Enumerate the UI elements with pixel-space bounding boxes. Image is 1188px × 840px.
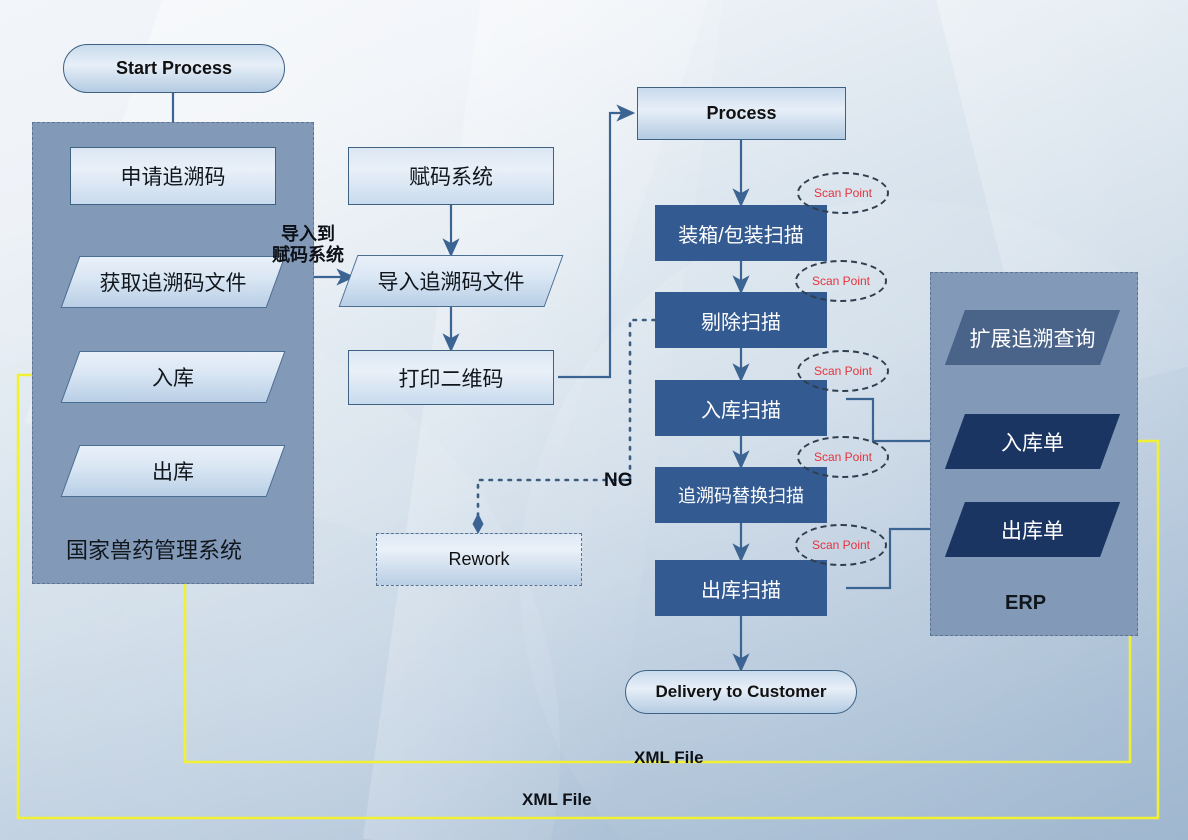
edge-label-line-1: 导入到 [272,224,344,245]
node-coding-system-label: 赋码系统 [409,161,493,191]
scan-point-label: Scan Point [814,364,872,378]
node-packing-scan-label: 装箱/包装扫描 [678,219,804,248]
node-packing-scan[interactable]: 装箱/包装扫描 [655,205,827,261]
node-start-process[interactable]: Start Process [63,44,285,93]
flowchart-canvas: Start Process 申请追溯码 获取追溯码文件 入库 出库 国家兽药管理… [0,0,1188,840]
node-reject-scan[interactable]: 剔除扫描 [655,292,827,348]
node-reject-scan-label: 剔除扫描 [701,306,781,335]
edge-label-line-2: 赋码系统 [272,245,344,266]
node-inbound[interactable]: 入库 [70,351,276,403]
node-inbound-document[interactable]: 入库单 [955,414,1110,469]
node-rework-label: Rework [448,549,509,570]
edge-label-xml-file-lower: XML File [518,790,596,810]
node-code-replace-scan-label: 追溯码替换扫描 [678,482,804,508]
node-process[interactable]: Process [637,87,846,140]
scan-point-badge-1: Scan Point [797,172,889,214]
node-extended-trace-query-label: 扩展追溯查询 [970,323,1096,353]
scan-point-badge-3: Scan Point [797,350,889,392]
node-delivery-to-customer[interactable]: Delivery to Customer [625,670,857,714]
node-code-replace-scan[interactable]: 追溯码替换扫描 [655,467,827,523]
edge-label-import-to-coding-system: 导入到 赋码系统 [272,224,344,265]
node-inbound-label: 入库 [152,362,194,392]
node-delivery-to-customer-label: Delivery to Customer [656,682,827,702]
node-import-trace-code-file[interactable]: 导入追溯码文件 [348,255,554,307]
node-print-qr-code[interactable]: 打印二维码 [348,350,554,405]
panel-national-system-title: 国家兽药管理系统 [66,533,242,565]
node-inbound-document-label: 入库单 [1001,427,1064,457]
node-outbound-document[interactable]: 出库单 [955,502,1110,557]
node-outbound-scan[interactable]: 出库扫描 [655,560,827,616]
scan-point-badge-2: Scan Point [795,260,887,302]
node-outbound-label: 出库 [152,456,194,486]
node-apply-trace-code[interactable]: 申请追溯码 [70,147,276,205]
edge-label-xml-file-upper: XML File [630,748,708,768]
node-coding-system[interactable]: 赋码系统 [348,147,554,205]
scan-point-label: Scan Point [814,450,872,464]
node-inbound-scan[interactable]: 入库扫描 [655,380,827,436]
node-start-process-label: Start Process [116,58,232,79]
scan-point-badge-4: Scan Point [797,436,889,478]
node-process-label: Process [706,103,776,124]
node-outbound[interactable]: 出库 [70,445,276,497]
edge-label-ng: NG [604,470,633,492]
node-rework[interactable]: Rework [376,533,582,586]
node-inbound-scan-label: 入库扫描 [701,394,781,423]
node-get-trace-code-file-label: 获取追溯码文件 [100,267,247,297]
panel-erp-title: ERP [1005,592,1046,615]
scan-point-label: Scan Point [814,186,872,200]
node-apply-trace-code-label: 申请追溯码 [121,161,226,191]
scan-point-label: Scan Point [812,538,870,552]
node-extended-trace-query[interactable]: 扩展追溯查询 [955,310,1110,365]
node-outbound-document-label: 出库单 [1001,515,1064,545]
scan-point-badge-5: Scan Point [795,524,887,566]
node-outbound-scan-label: 出库扫描 [701,574,781,603]
scan-point-label: Scan Point [812,274,870,288]
node-print-qr-code-label: 打印二维码 [399,363,504,393]
node-get-trace-code-file[interactable]: 获取追溯码文件 [70,256,276,308]
node-import-trace-code-file-label: 导入追溯码文件 [378,266,525,296]
